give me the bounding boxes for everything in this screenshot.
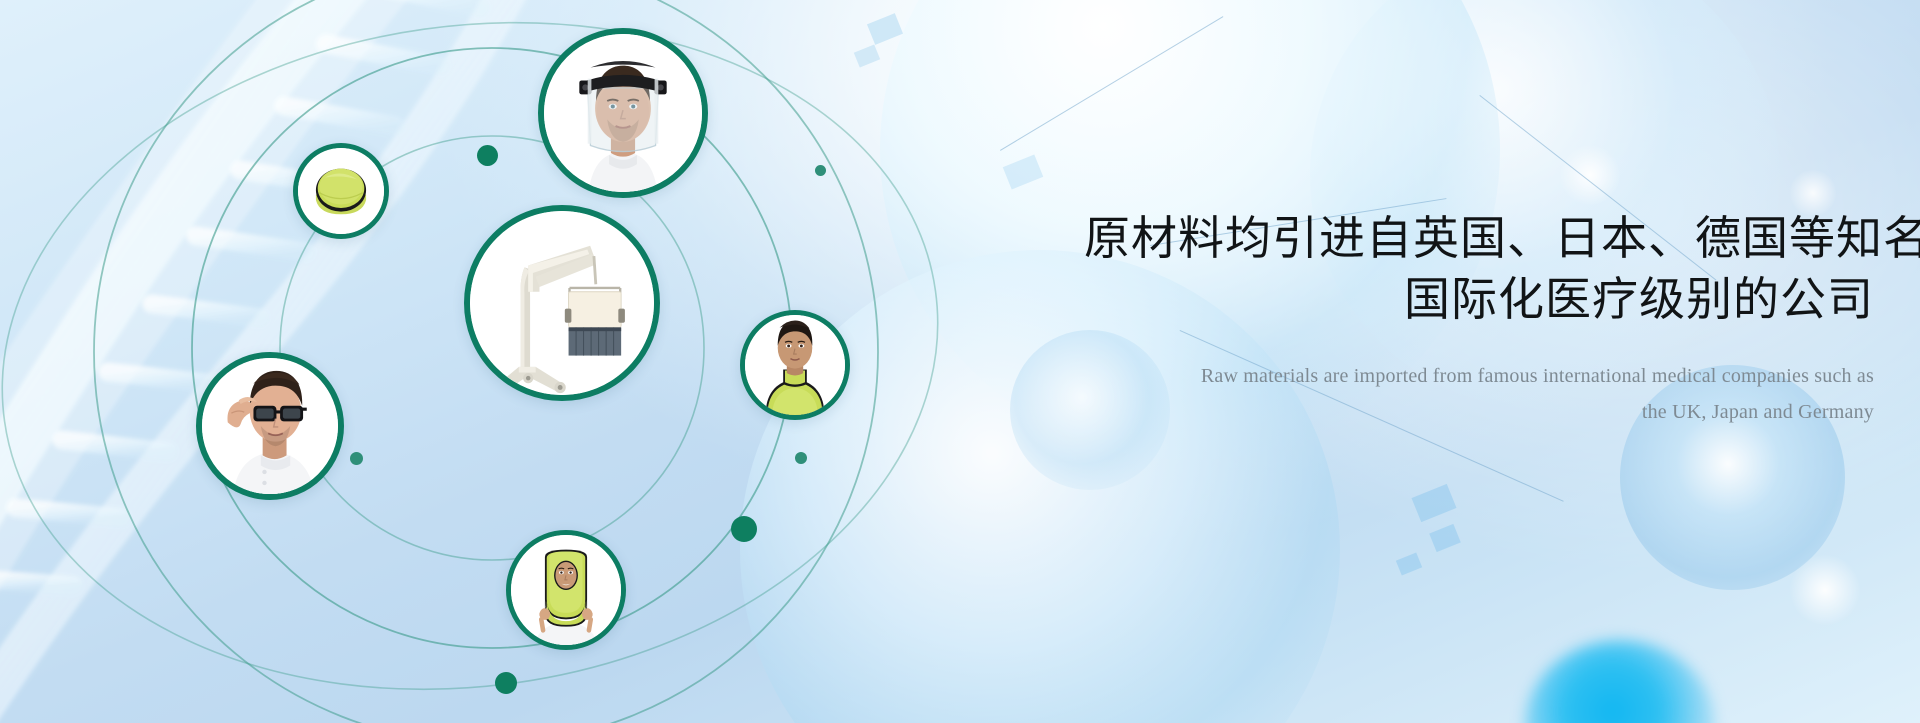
- thyroid-collar-photo: [745, 315, 845, 415]
- accent-dot-bottom: [495, 672, 517, 694]
- background-square-3: [1396, 552, 1422, 575]
- accent-dot-large-mid: [731, 516, 757, 542]
- bubble-thyroid-collar[interactable]: [740, 310, 850, 420]
- background-cyan-highlight: [1525, 640, 1715, 723]
- headline-line-1: 原材料均引进自英国、日本、德国等知名: [1084, 212, 1920, 264]
- background-square-2: [1429, 524, 1461, 552]
- radiation-glasses-photo: [202, 358, 338, 494]
- subtitle-line-1: Raw materials are imported from famous i…: [1084, 359, 1874, 395]
- bubble-radiation-face-shield[interactable]: [538, 28, 708, 198]
- page-title: 原材料均引进自英国、日本、德国等知名 国际化医疗级别的公司: [1084, 208, 1874, 329]
- background-square-1: [1412, 484, 1457, 522]
- mobile-lead-shield-photo: [470, 211, 654, 395]
- bubble-lead-cap[interactable]: [293, 143, 389, 239]
- accent-dot-right: [795, 452, 807, 464]
- headline-line-2: 国际化医疗级别的公司: [1084, 269, 1874, 330]
- bubble-radiation-glasses[interactable]: [196, 352, 344, 500]
- bubble-mobile-lead-shield[interactable]: [464, 205, 660, 401]
- background-glow-b: [1790, 555, 1860, 625]
- subtitle-line-2: the UK, Japan and Germany: [1084, 395, 1874, 431]
- molecule-bond-4: [1000, 16, 1223, 151]
- hero-copy-block: 原材料均引进自英国、日本、德国等知名 国际化医疗级别的公司 Raw materi…: [1084, 208, 1874, 431]
- bubble-protective-hood[interactable]: [506, 530, 626, 650]
- accent-dot-mid-left: [350, 452, 363, 465]
- radiation-face-shield-photo: [544, 34, 702, 192]
- background-square-6: [1003, 155, 1044, 190]
- lead-cap-product-photo: [298, 148, 384, 234]
- background-glow-a: [1560, 145, 1620, 205]
- page-subtitle: Raw materials are imported from famous i…: [1084, 359, 1874, 430]
- accent-dot-top: [477, 145, 498, 166]
- hero-banner: 原材料均引进自英国、日本、德国等知名 国际化医疗级别的公司 Raw materi…: [0, 0, 1920, 723]
- accent-dot-upper-right: [815, 165, 826, 176]
- protective-hood-photo: [511, 535, 621, 645]
